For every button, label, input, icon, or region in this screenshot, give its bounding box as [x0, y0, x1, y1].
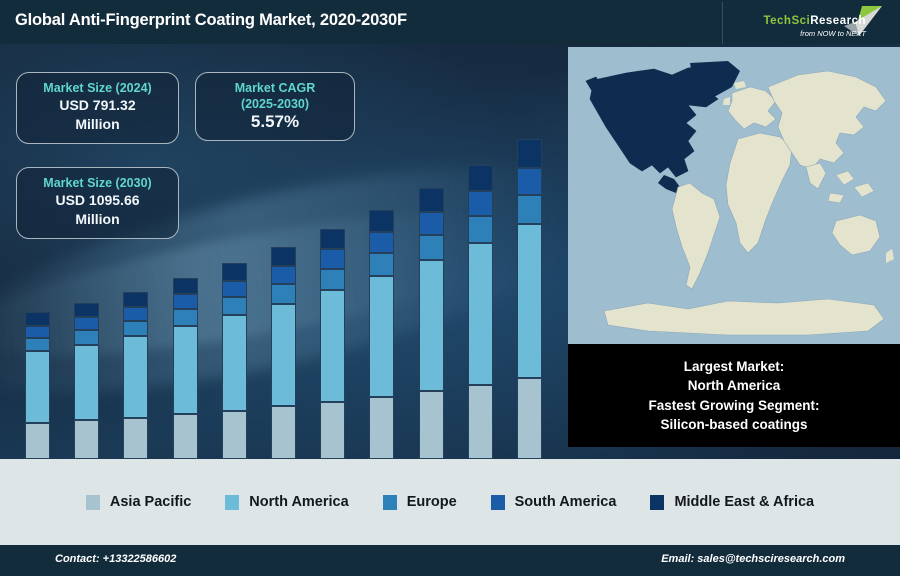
- bar-segment-north-america: [173, 326, 198, 414]
- market-size-2024-value: USD 791.32: [27, 96, 168, 115]
- bar-segment-south-america: [271, 266, 296, 284]
- legend-item-asia-pacific[interactable]: Asia Pacific: [86, 494, 191, 510]
- legend-label: North America: [249, 494, 348, 510]
- legend-label: Middle East & Africa: [674, 494, 814, 510]
- bar-segment-north-america: [517, 224, 542, 378]
- bar-segment-north-america: [271, 304, 296, 407]
- bar-segment-north-america: [74, 345, 99, 421]
- market-size-2024-unit: Million: [27, 115, 168, 134]
- bar-segment-asia-pacific: [123, 418, 148, 459]
- bar-segment-north-america: [25, 351, 50, 423]
- legend-label: South America: [515, 494, 617, 510]
- market-cagr-value: 5.57%: [206, 112, 344, 131]
- bar-segment-middle-east-africa: [419, 188, 444, 212]
- footer-email: Email: sales@techsciresearch.com: [661, 553, 845, 565]
- legend-item-south-america[interactable]: South America: [491, 494, 617, 510]
- legend-item-middle-east-africa[interactable]: Middle East & Africa: [650, 494, 814, 510]
- legend-item-europe[interactable]: Europe: [383, 494, 457, 510]
- bar-segment-north-america: [369, 276, 394, 397]
- bar-segment-europe: [419, 235, 444, 260]
- market-size-2030-label: Market Size (2030): [27, 175, 168, 191]
- world-map-svg: [568, 47, 900, 344]
- bar-segment-europe: [320, 269, 345, 290]
- legend-label: Europe: [407, 494, 457, 510]
- bar-segment-middle-east-africa: [25, 312, 50, 325]
- bar-2029F: [468, 44, 493, 459]
- callout-box: Largest Market: North America Fastest Gr…: [568, 344, 900, 447]
- callout-largest-market-label: Largest Market:: [684, 357, 785, 377]
- legend-swatch-icon: [491, 495, 505, 510]
- market-size-2030-value: USD 1095.66: [27, 191, 168, 210]
- callout-fastest-segment-label: Fastest Growing Segment:: [648, 396, 819, 416]
- bar-segment-south-america: [173, 294, 198, 309]
- brand-logo: TechSciResearch from NOW to NEXT: [722, 2, 892, 44]
- bar-segment-south-america: [222, 281, 247, 298]
- header-bar: Global Anti-Fingerprint Coating Market, …: [0, 0, 900, 44]
- bar-segment-middle-east-africa: [468, 165, 493, 191]
- bar-segment-europe: [173, 309, 198, 325]
- page-title: Global Anti-Fingerprint Coating Market, …: [15, 11, 407, 30]
- market-size-2024-label: Market Size (2024): [27, 80, 168, 96]
- bar-segment-asia-pacific: [468, 385, 493, 459]
- bar-segment-south-america: [468, 191, 493, 216]
- bar-segment-asia-pacific: [320, 402, 345, 459]
- market-cagr-period: (2025-2030): [206, 96, 344, 112]
- bar-segment-middle-east-africa: [74, 303, 99, 317]
- bar-segment-asia-pacific: [25, 423, 50, 459]
- bar-segment-asia-pacific: [222, 411, 247, 459]
- bar-2030F: [517, 44, 542, 459]
- bar-segment-middle-east-africa: [173, 278, 198, 294]
- bar-segment-north-america: [222, 315, 247, 410]
- market-size-2030-unit: Million: [27, 210, 168, 229]
- bar-segment-south-america: [320, 249, 345, 269]
- bar-segment-middle-east-africa: [320, 229, 345, 249]
- bar-segment-north-america: [320, 290, 345, 402]
- bar-2027F: [369, 44, 394, 459]
- bar-segment-europe: [25, 338, 50, 351]
- bar-segment-middle-east-africa: [369, 210, 394, 232]
- bar-segment-asia-pacific: [369, 397, 394, 459]
- bar-segment-europe: [271, 284, 296, 303]
- chart-legend: Asia PacificNorth AmericaEuropeSouth Ame…: [0, 459, 900, 545]
- bar-segment-middle-east-africa: [123, 292, 148, 307]
- bar-segment-europe: [468, 216, 493, 243]
- bar-segment-north-america: [419, 260, 444, 391]
- bar-segment-europe: [517, 195, 542, 224]
- bar-segment-asia-pacific: [271, 406, 296, 459]
- bar-segment-europe: [123, 321, 148, 336]
- market-size-2030-card: Market Size (2030) USD 1095.66 Million: [16, 167, 179, 239]
- bar-2028F: [419, 44, 444, 459]
- bar-segment-asia-pacific: [517, 378, 542, 459]
- logo-tagline: from NOW to NEXT: [800, 29, 866, 38]
- bar-segment-middle-east-africa: [271, 247, 296, 266]
- legend-item-north-america[interactable]: North America: [225, 494, 348, 510]
- legend-swatch-icon: [650, 495, 664, 510]
- bar-segment-middle-east-africa: [517, 139, 542, 168]
- legend-swatch-icon: [86, 495, 100, 510]
- callout-fastest-segment-value: Silicon-based coatings: [660, 415, 807, 435]
- bar-segment-asia-pacific: [419, 391, 444, 459]
- bar-segment-europe: [369, 253, 394, 276]
- market-cagr-label: Market CAGR: [206, 80, 344, 96]
- bar-segment-south-america: [419, 212, 444, 235]
- footer-contact: Contact: +13322586602: [55, 553, 176, 565]
- bar-segment-asia-pacific: [74, 420, 99, 459]
- bar-segment-south-america: [25, 326, 50, 339]
- bar-segment-asia-pacific: [173, 414, 198, 459]
- bar-segment-north-america: [123, 336, 148, 417]
- market-size-2024-card: Market Size (2024) USD 791.32 Million: [16, 72, 179, 144]
- logo-text-techsci: TechSci: [763, 15, 810, 27]
- legend-swatch-icon: [383, 495, 397, 510]
- logo-text-research: Research: [810, 15, 866, 27]
- bar-segment-south-america: [369, 232, 394, 253]
- market-cagr-card: Market CAGR (2025-2030) 5.57%: [195, 72, 355, 141]
- bar-segment-europe: [74, 330, 99, 344]
- bar-segment-europe: [222, 297, 247, 315]
- bar-segment-south-america: [517, 168, 542, 195]
- map-region-antarctica: [604, 299, 884, 335]
- legend-swatch-icon: [225, 495, 239, 510]
- bar-segment-south-america: [123, 307, 148, 321]
- legend-label: Asia Pacific: [110, 494, 191, 510]
- bar-segment-south-america: [74, 317, 99, 330]
- world-map: [568, 47, 900, 344]
- callout-largest-market-value: North America: [688, 376, 781, 396]
- footer-bar: Contact: +13322586602 Email: sales@techs…: [0, 545, 900, 576]
- bar-segment-middle-east-africa: [222, 263, 247, 281]
- logo-wordmark: TechSciResearch: [763, 15, 866, 27]
- bar-segment-north-america: [468, 243, 493, 385]
